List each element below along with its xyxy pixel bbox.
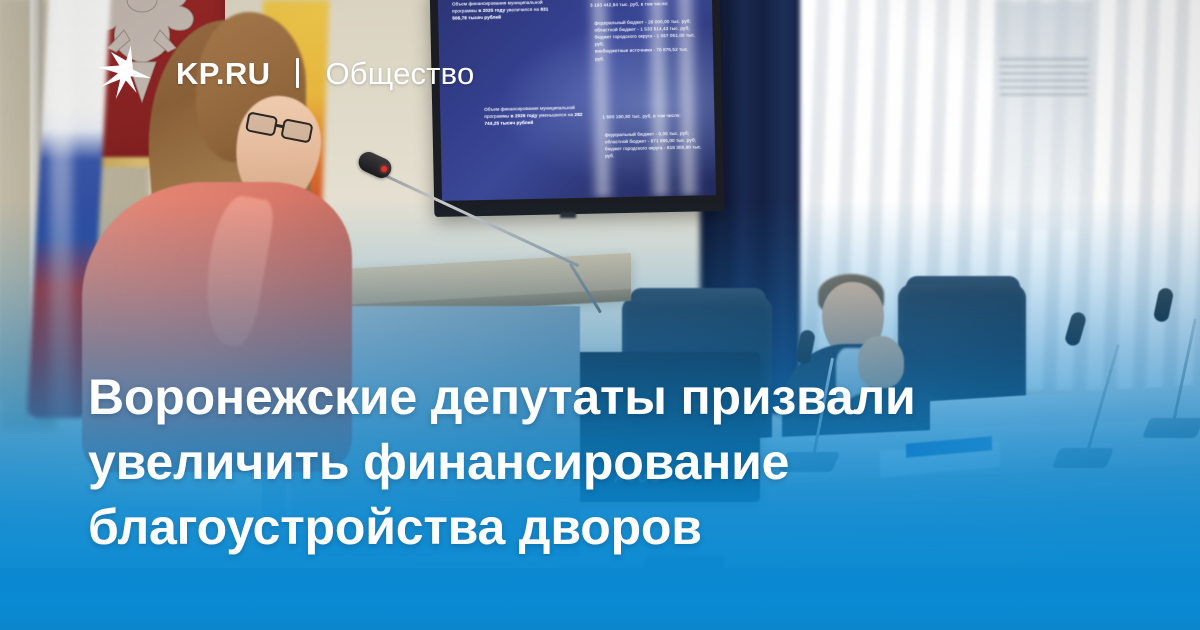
screen-glare-3 bbox=[672, 0, 702, 196]
kp-swallow-bird-icon[interactable] bbox=[92, 42, 154, 104]
window-behind-curtain bbox=[996, 0, 1092, 230]
brand-text-row: KP.RU Общество bbox=[176, 58, 474, 89]
window-blind bbox=[1000, 58, 1088, 98]
projection-screen-surface: Объем финансирования муниципальной прогр… bbox=[438, 0, 716, 201]
microphone-led-indicator bbox=[381, 166, 387, 172]
microphone-base bbox=[1142, 418, 1200, 438]
microphone-base-foreground bbox=[634, 556, 725, 602]
brand-name[interactable]: KP.RU bbox=[176, 58, 270, 89]
screen-mount bbox=[560, 212, 576, 218]
eyeglass-lens-left bbox=[245, 111, 278, 136]
headline-line-2: увеличить финансирование bbox=[88, 430, 1098, 495]
headline-line-1: Воронежские депутаты призвали bbox=[88, 365, 1098, 430]
flag-fold-highlight bbox=[50, 0, 72, 418]
brand-header: KP.RU Общество bbox=[92, 42, 474, 104]
slide-text-2026-label: Объем финансирования муниципальной прогр… bbox=[484, 104, 596, 128]
brand-separator bbox=[296, 58, 299, 88]
screen-glare-2 bbox=[644, 0, 674, 197]
screen-glare-1 bbox=[586, 0, 616, 198]
eyeglass-bridge bbox=[275, 124, 284, 128]
slide-text-2025-label: Объем финансирования муниципальной прогр… bbox=[452, 0, 564, 22]
projection-screen: Объем финансирования муниципальной прогр… bbox=[430, 0, 725, 217]
eyeglass-lens-right bbox=[280, 118, 313, 143]
social-share-card: Объем финансирования муниципальной прогр… bbox=[0, 0, 1200, 630]
headline: Воронежские депутаты призвали увеличить … bbox=[88, 365, 1098, 560]
headline-line-3: благоустройства дворов bbox=[88, 495, 1098, 560]
rubric-label[interactable]: Общество bbox=[325, 58, 474, 89]
